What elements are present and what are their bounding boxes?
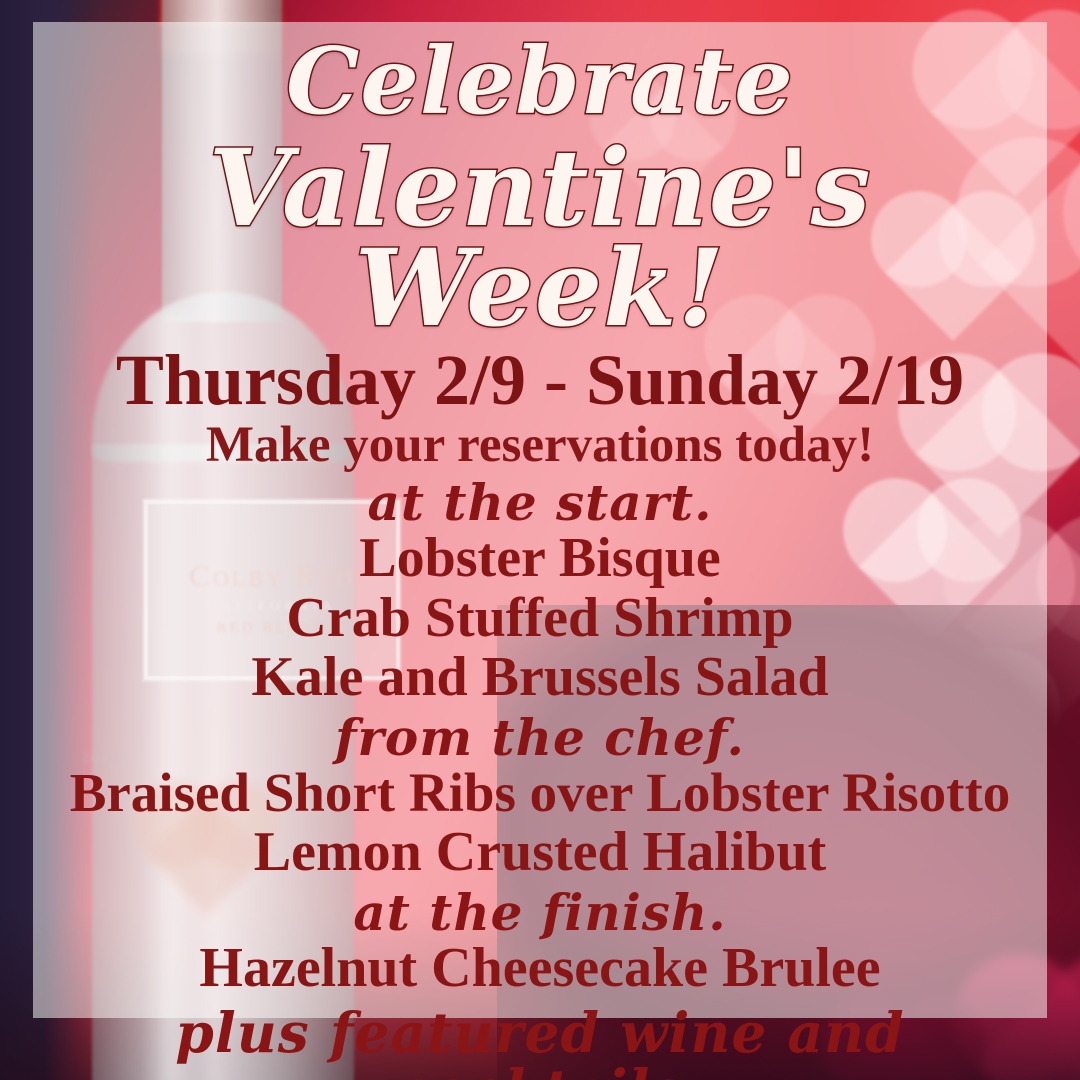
poster-content: Celebrate Valentine's Week! Thursday 2/9… <box>33 22 1047 1018</box>
menu-item: Kale and Brussels Salad <box>33 648 1047 707</box>
poster-title-line-2: Valentine's Week! <box>33 124 1047 337</box>
menu-item: Crab Stuffed Shrimp <box>33 589 1047 648</box>
course-heading-starters: at the start. <box>33 476 1047 529</box>
poster-title-line-1: Celebrate <box>33 28 1047 124</box>
valentines-week-promo-poster: Colby Red CALIFORNIA RED BLEND 2014 Cele… <box>0 0 1080 1080</box>
poster-call-to-action: Make your reservations today! <box>33 419 1047 472</box>
menu-item: Lobster Bisque <box>33 529 1047 588</box>
menu-item: Lemon Crusted Halibut <box>33 823 1047 882</box>
menu-item: Hazelnut Cheesecake Brulee <box>33 939 1047 998</box>
poster-footer-note: plus featured wine and cocktails <box>33 1004 1047 1080</box>
menu-item: Braised Short Ribs over Lobster Risotto <box>33 764 1047 822</box>
poster-date-range: Thursday 2/9 - Sunday 2/19 <box>33 344 1047 417</box>
course-heading-entrees: from the chef. <box>33 711 1047 764</box>
course-heading-dessert: at the finish. <box>33 886 1047 939</box>
